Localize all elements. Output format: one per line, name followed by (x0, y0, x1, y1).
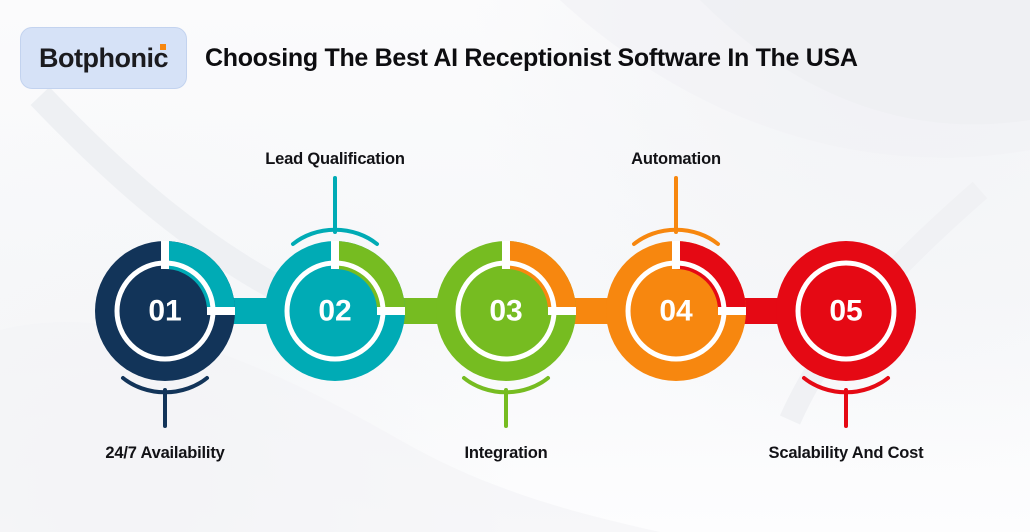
orange-square-dot-icon (160, 44, 166, 50)
process-node-05[interactable]: 05 (776, 241, 916, 381)
stem-03 (464, 378, 548, 426)
header: Botphonic Choosing The Best AI Reception… (20, 26, 858, 90)
stem-01 (123, 378, 207, 426)
node-number-05: 05 (829, 295, 862, 328)
page-title: Choosing The Best AI Receptionist Softwa… (205, 44, 858, 73)
process-flow-diagram: 01 02 03 (0, 96, 1030, 532)
node-number-04: 04 (659, 295, 693, 328)
node-number-02: 02 (318, 295, 351, 328)
node-number-03: 03 (489, 295, 522, 328)
node-label-01: 24/7 Availability (105, 444, 224, 463)
node-label-05: Scalability And Cost (769, 444, 924, 463)
process-node-03[interactable]: 03 (436, 241, 576, 381)
process-node-02[interactable]: 02 (265, 241, 405, 381)
logo-label: Botphonic (39, 43, 168, 73)
node-label-04: Automation (631, 150, 721, 169)
node-number-01: 01 (148, 295, 181, 328)
process-node-04[interactable]: 04 (606, 241, 746, 381)
process-flow-svg: 01 02 03 (0, 96, 1030, 532)
node-label-03: Integration (464, 444, 547, 463)
node-label-02: Lead Qualification (265, 150, 404, 169)
infographic-canvas: Botphonic Choosing The Best AI Reception… (0, 0, 1030, 532)
stem-05 (804, 378, 888, 426)
stem-04 (634, 178, 718, 244)
process-node-01[interactable]: 01 (95, 241, 235, 381)
logo-badge[interactable]: Botphonic (20, 27, 187, 89)
logo-text: Botphonic (39, 43, 168, 74)
stem-02 (293, 178, 377, 244)
